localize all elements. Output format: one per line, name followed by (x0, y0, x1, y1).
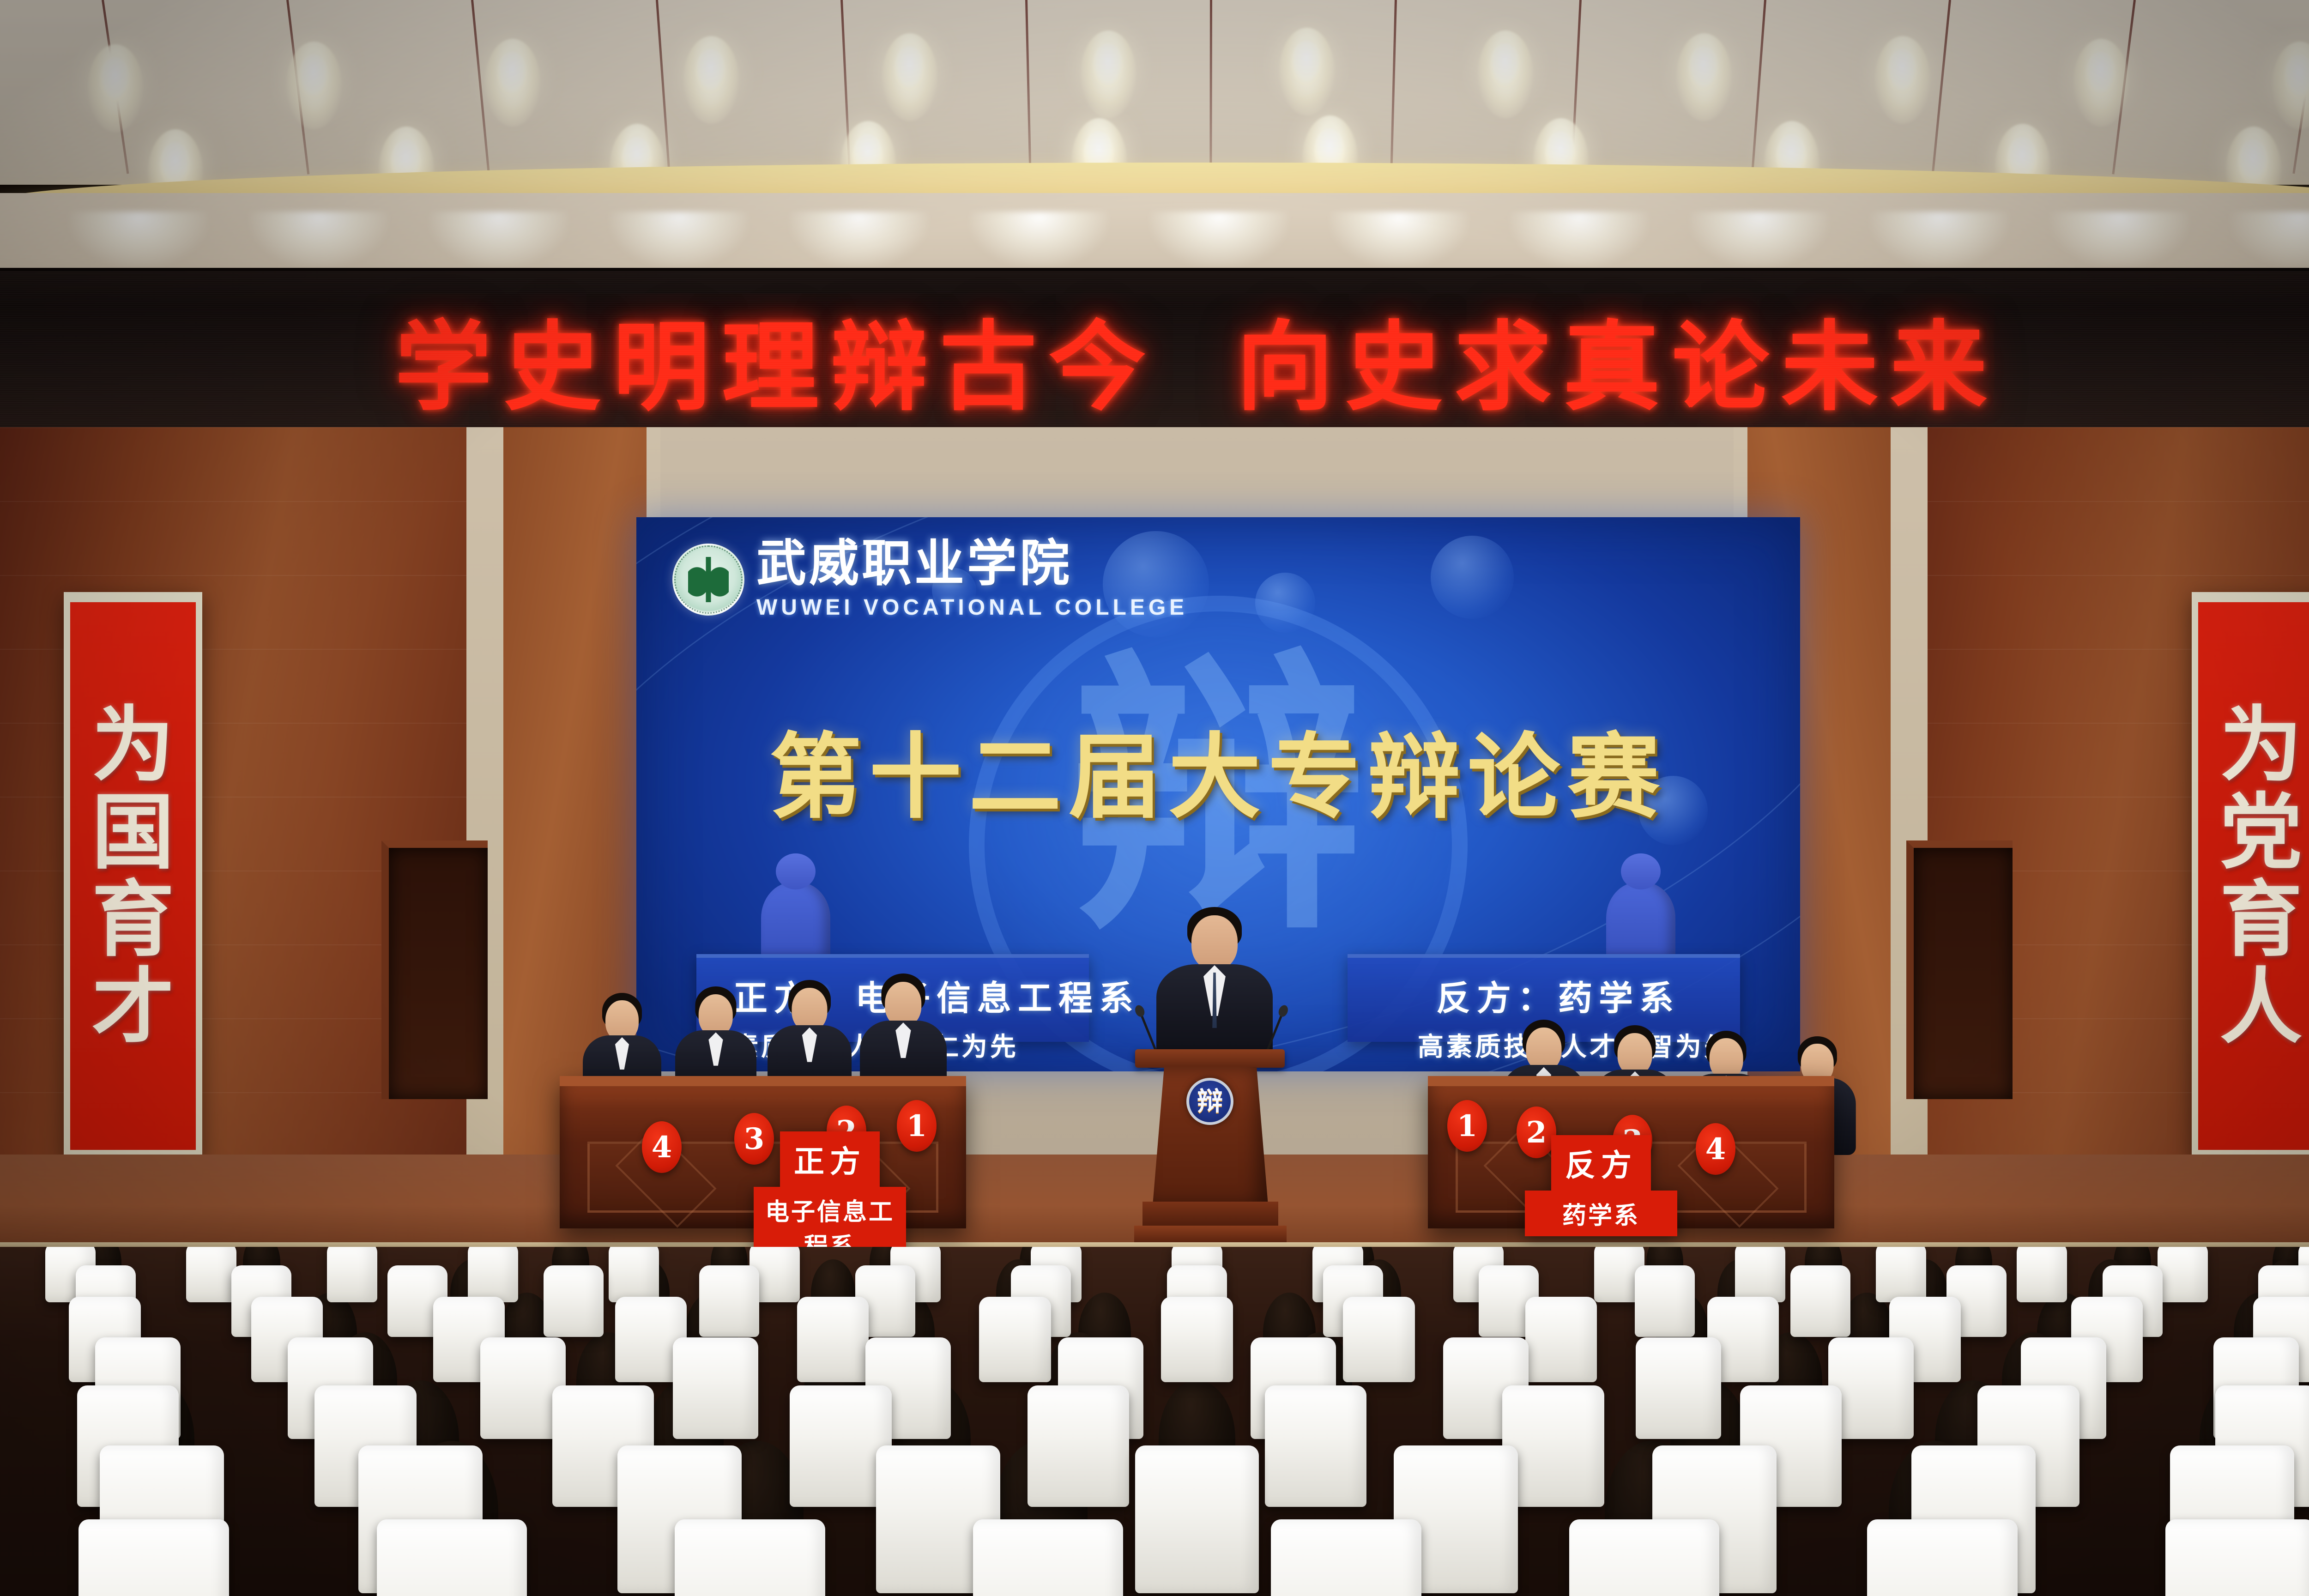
soffit-spotlight (790, 212, 928, 267)
banner-right-char-1: 为 (2220, 706, 2302, 785)
downlight-core (695, 49, 726, 93)
college-logo: 武威职业学院 WUWEI VOCATIONAL COLLEGE (672, 538, 1188, 620)
affirmative-table: 4 3 2 1 正方 电子信息工程系 (560, 1076, 966, 1228)
led-banner-text: 学史明理辩古今 向史求真论未来 (0, 289, 2309, 427)
college-name-en: WUWEI VOCATIONAL COLLEGE (756, 595, 1188, 620)
negative-department: 药学系 (1525, 1191, 1677, 1236)
soffit-spotlight (1870, 212, 2009, 267)
downlight-core (1291, 41, 1322, 85)
audience-chair[interactable] (979, 1297, 1051, 1382)
crest-ring (674, 545, 743, 614)
negative-seat-1: 1 (1447, 1100, 1487, 1152)
audience-chair[interactable] (1271, 1519, 1421, 1596)
soffit-spotlight (2230, 212, 2309, 267)
ceiling-downlight (1676, 33, 1732, 121)
debater-head (1618, 1033, 1652, 1076)
banner-left-char-4: 才 (92, 967, 174, 1046)
podium-base (1142, 1202, 1278, 1227)
podium: 辩 (1132, 1049, 1287, 1243)
audience-chair[interactable] (1161, 1297, 1233, 1382)
downlight-core (100, 57, 130, 102)
screen-figure-negative (1606, 882, 1675, 961)
banner-right-char-2: 党 (2220, 793, 2302, 872)
negative-table: 1 2 3 4 反方 药学系 (1428, 1076, 1834, 1228)
wall-banner-left: 为 国 育 才 (64, 592, 202, 1160)
downlight-core (160, 142, 190, 187)
downlight-core (2085, 52, 2116, 96)
ceiling-downlight (1478, 30, 1533, 118)
audience-chair[interactable] (1635, 1265, 1695, 1337)
ceiling-downlight (88, 44, 143, 132)
audience-chair[interactable] (2158, 1247, 2208, 1302)
audience-chair[interactable] (973, 1519, 1124, 1596)
ceiling-seam (1751, 0, 1766, 175)
led-scrolling-banner: 学史明理辩古今 向史求真论未来 (0, 268, 2309, 427)
doorway-right[interactable] (1906, 840, 2013, 1099)
debater-head (605, 1000, 639, 1041)
audience-chair[interactable] (1867, 1519, 2018, 1596)
debater-head (885, 982, 922, 1027)
audience-chair[interactable] (1790, 1265, 1850, 1337)
negative-team-label: 反方 (1551, 1135, 1651, 1191)
ceiling-downlight (485, 39, 540, 127)
audience-chair[interactable] (1135, 1445, 1259, 1593)
audience-chair[interactable] (327, 1247, 377, 1302)
college-logo-text: 武威职业学院 WUWEI VOCATIONAL COLLEGE (756, 538, 1188, 620)
led-phrase-left: 学史明理辩古今 (395, 289, 1158, 427)
negative-placard: 反方 药学系 (1525, 1135, 1677, 1236)
downlight-core (497, 52, 527, 96)
banner-right-char-3: 育 (2220, 880, 2302, 959)
audience-chair[interactable] (1876, 1247, 1926, 1302)
ceiling-downlight (286, 42, 342, 129)
ceiling-downlight (882, 33, 937, 121)
screen-negative-label: 反方：药学系 (1436, 971, 1680, 1020)
audience-chair[interactable] (1265, 1385, 1367, 1507)
banner-right-char-4: 人 (2220, 967, 2302, 1046)
podium-top (1135, 1049, 1285, 1068)
audience-chair[interactable] (1343, 1297, 1414, 1382)
soffit-spotlight (610, 212, 748, 267)
audience-chair[interactable] (79, 1519, 229, 1596)
podium-emblem-char: 辩 (1197, 1088, 1223, 1114)
wall-banner-right-inner: 为 党 育 人 (2198, 602, 2309, 1150)
soffit-spotlight (1150, 212, 1288, 267)
debater-head (699, 994, 733, 1036)
audience-chair[interactable] (2165, 1519, 2309, 1596)
ceiling-downlight (683, 36, 739, 124)
downlight-core (298, 54, 329, 99)
moderator-head (1191, 915, 1238, 970)
negative-seat-4: 4 (1696, 1123, 1735, 1175)
audience-seating (0, 1247, 2309, 1596)
wall-banner-right: 为 党 育 人 (2192, 592, 2309, 1160)
audience-chair[interactable] (1525, 1297, 1597, 1382)
ceiling-seam (1390, 0, 1397, 175)
soffit-spotlight (2050, 212, 2189, 267)
ceiling-seam (1025, 0, 1032, 175)
downlight-core (2238, 139, 2268, 184)
ceiling (0, 0, 2309, 185)
soffit-spotlight (1330, 212, 1469, 267)
audience-chair[interactable] (609, 1247, 659, 1302)
wall-banner-left-inner: 为 国 育 才 (70, 602, 196, 1150)
screen-figure-affirmative (761, 882, 830, 961)
soffit-spotlight (970, 212, 1108, 267)
debater-head (1709, 1038, 1743, 1079)
banner-left-char-2: 国 (92, 793, 174, 872)
college-crest-icon (672, 544, 744, 616)
affirmative-seat-4: 4 (642, 1121, 682, 1173)
downlight-core (1887, 49, 1917, 93)
moderator (1154, 905, 1275, 1058)
ceiling-downlight (1081, 30, 1136, 118)
led-phrase-right: 向史求真论未来 (1236, 289, 1999, 427)
audience-chair[interactable] (544, 1265, 604, 1337)
downlight-core (2284, 54, 2309, 99)
audience-chair[interactable] (1735, 1247, 1785, 1302)
downlight-core (1490, 43, 1520, 88)
auditorium-scene: 学史明理辩古今 向史求真论未来 为 国 育 才 为 党 育 人 (0, 0, 2309, 1596)
audience-chair[interactable] (699, 1265, 759, 1337)
downlight-core (894, 46, 925, 91)
soffit-spotlight (69, 212, 208, 267)
screen-figure-head (776, 853, 816, 889)
audience-chair[interactable] (468, 1247, 518, 1302)
ceiling-downlight (2073, 39, 2129, 127)
doorway-left[interactable] (381, 840, 488, 1099)
audience-chair[interactable] (1569, 1519, 1720, 1596)
soffit-spotlight (429, 212, 568, 267)
soffit-spotlight (1510, 212, 1649, 267)
ceiling-seam (1932, 0, 1951, 175)
podium-emblem-icon: 辩 (1186, 1078, 1233, 1125)
downlight-core (1688, 46, 1719, 91)
screen-figure-head (1621, 853, 1661, 889)
ceiling-downlight (2272, 42, 2309, 129)
debater-head (792, 988, 827, 1031)
event-title: 第十二届大专辩论赛 (769, 702, 1667, 836)
audience-chair[interactable] (675, 1519, 825, 1596)
podium-foot (1134, 1226, 1287, 1242)
audience-chair[interactable] (377, 1519, 527, 1596)
banner-left-char-3: 育 (92, 880, 174, 959)
audience-chair[interactable] (797, 1297, 869, 1382)
ceiling-downlight (1279, 28, 1335, 115)
debater-head (1526, 1028, 1561, 1071)
audience-chair[interactable] (186, 1247, 236, 1302)
audience-chair[interactable] (1636, 1337, 1721, 1439)
screen-bubble-3 (1431, 536, 1514, 619)
college-name-cn: 武威职业学院 (756, 538, 1188, 588)
banner-left-char-1: 为 (92, 706, 174, 785)
downlight-core (1093, 43, 1123, 88)
soffit-spotlight (249, 212, 388, 267)
audience-chair[interactable] (1028, 1385, 1130, 1507)
audience-chair[interactable] (673, 1337, 758, 1439)
audience-chair[interactable] (2017, 1247, 2067, 1302)
ceiling-downlight (1875, 36, 1930, 124)
affirmative-team-label: 正方 (780, 1131, 880, 1187)
soffit-spotlight (1690, 212, 1829, 267)
ceiling-seam (1209, 0, 1212, 175)
